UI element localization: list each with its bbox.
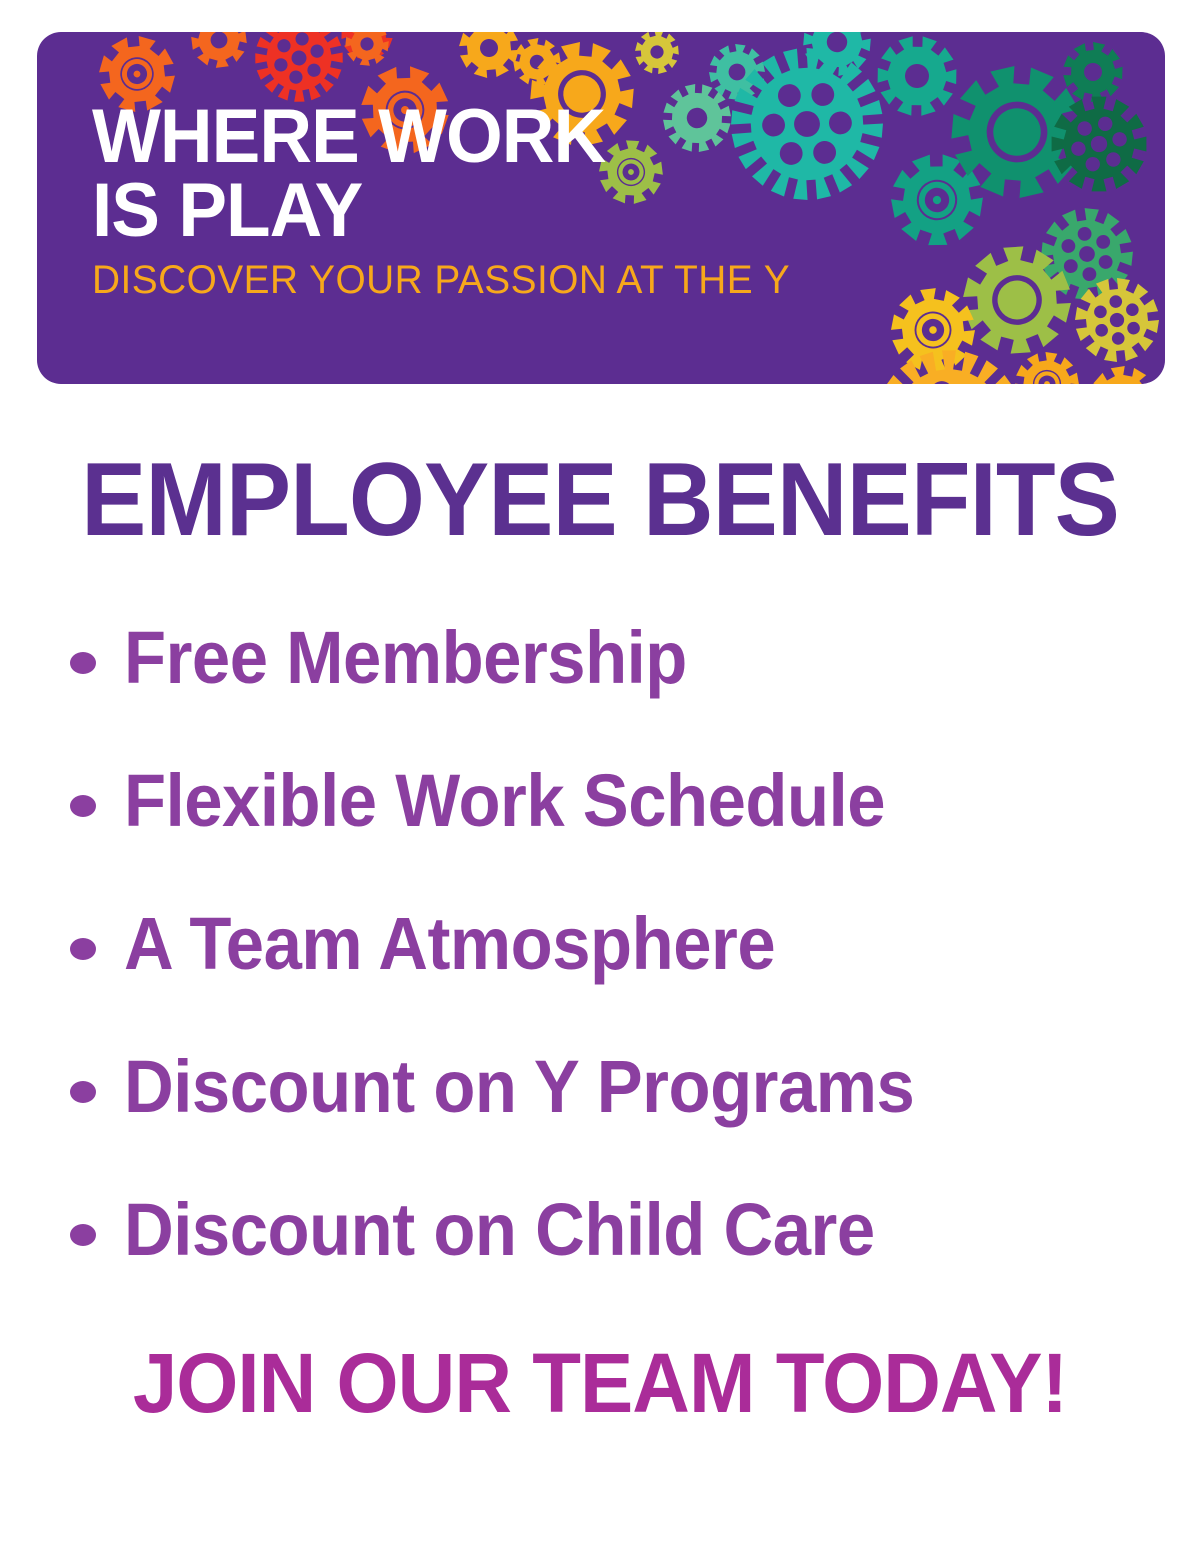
benefit-label: Discount on Child Care xyxy=(124,1186,875,1274)
benefit-label: Free Membership xyxy=(124,614,687,702)
bullet-icon xyxy=(70,1224,96,1246)
benefits-list: Free Membership Flexible Work Schedule A… xyxy=(66,614,1146,1329)
hero-banner: WHERE WORK IS PLAY DISCOVER YOUR PASSION… xyxy=(37,32,1165,384)
list-item: Flexible Work Schedule xyxy=(66,757,1146,900)
banner-title-line-1: WHERE WORK xyxy=(92,100,783,174)
banner-subtitle: DISCOVER YOUR PASSION AT THE Y xyxy=(92,258,790,302)
page-title: EMPLOYEE BENEFITS xyxy=(36,446,1164,554)
list-item: Discount on Child Care xyxy=(66,1186,1146,1329)
list-item: A Team Atmosphere xyxy=(66,900,1146,1043)
flyer-page: WHERE WORK IS PLAY DISCOVER YOUR PASSION… xyxy=(0,0,1200,1553)
list-item: Discount on Y Programs xyxy=(66,1043,1146,1186)
bullet-icon xyxy=(70,652,96,674)
benefit-label: Discount on Y Programs xyxy=(124,1043,914,1131)
benefit-label: Flexible Work Schedule xyxy=(124,757,885,845)
bullet-icon xyxy=(70,1081,96,1103)
banner-title-line-2: IS PLAY xyxy=(92,174,783,248)
list-item: Free Membership xyxy=(66,614,1146,757)
call-to-action: JOIN OUR TEAM TODAY! xyxy=(30,1337,1170,1429)
bullet-icon xyxy=(70,938,96,960)
bullet-icon xyxy=(70,795,96,817)
benefit-label: A Team Atmosphere xyxy=(124,900,775,988)
banner-text-block: WHERE WORK IS PLAY DISCOVER YOUR PASSION… xyxy=(92,100,812,302)
